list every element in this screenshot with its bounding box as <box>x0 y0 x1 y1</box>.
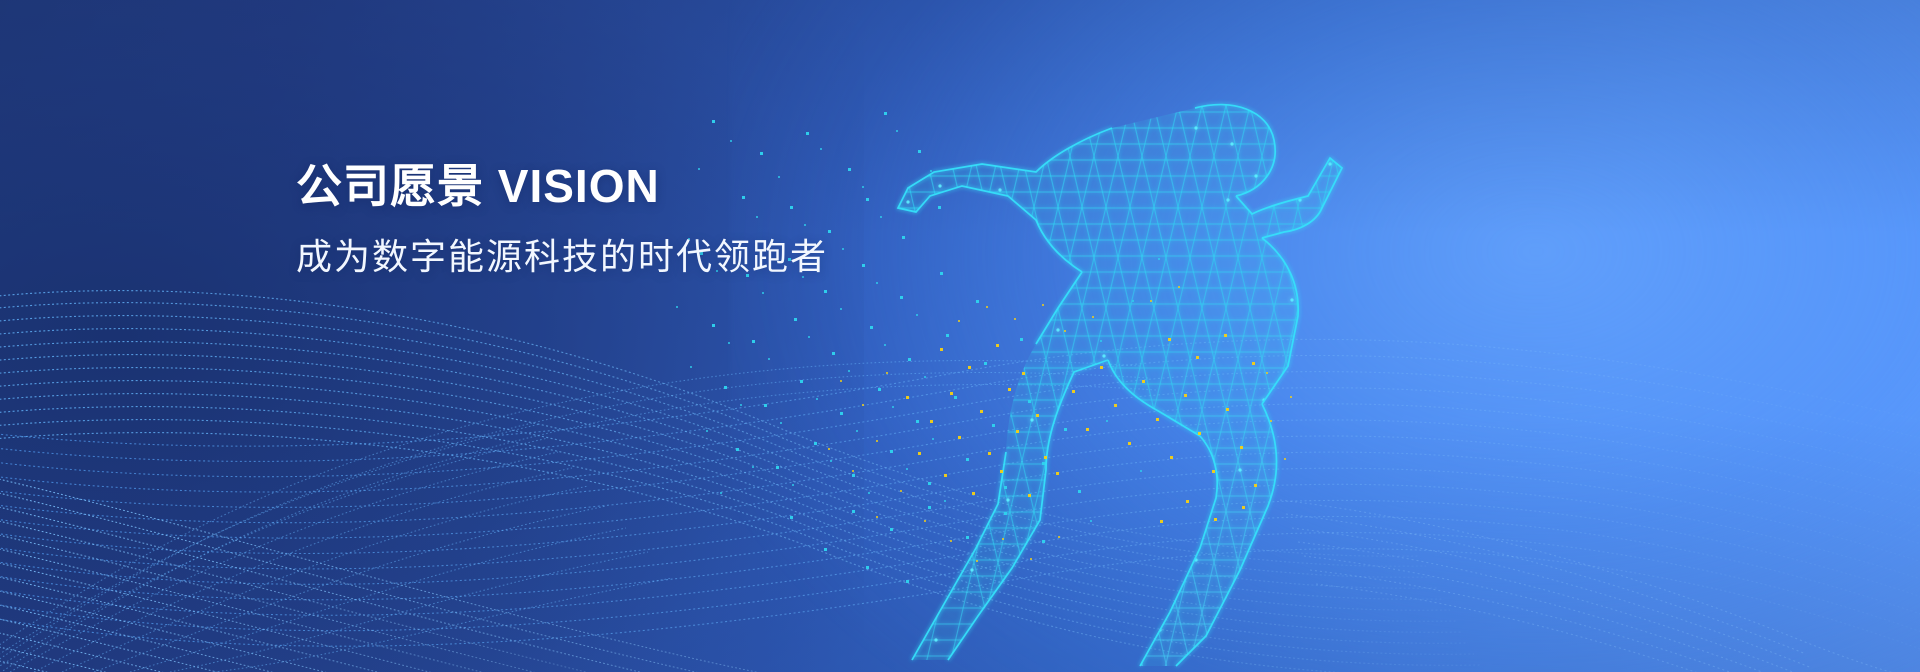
page-title: 公司愿景 VISION <box>296 160 828 213</box>
yellow-particles <box>828 286 1292 562</box>
vision-banner: 公司愿景 VISION 成为数字能源科技的时代领跑者 <box>0 0 1920 672</box>
page-subtitle: 成为数字能源科技的时代领跑者 <box>296 235 828 278</box>
particle-dispersion-graphic <box>0 0 1920 672</box>
vision-text-block: 公司愿景 VISION 成为数字能源科技的时代领跑者 <box>296 160 828 278</box>
